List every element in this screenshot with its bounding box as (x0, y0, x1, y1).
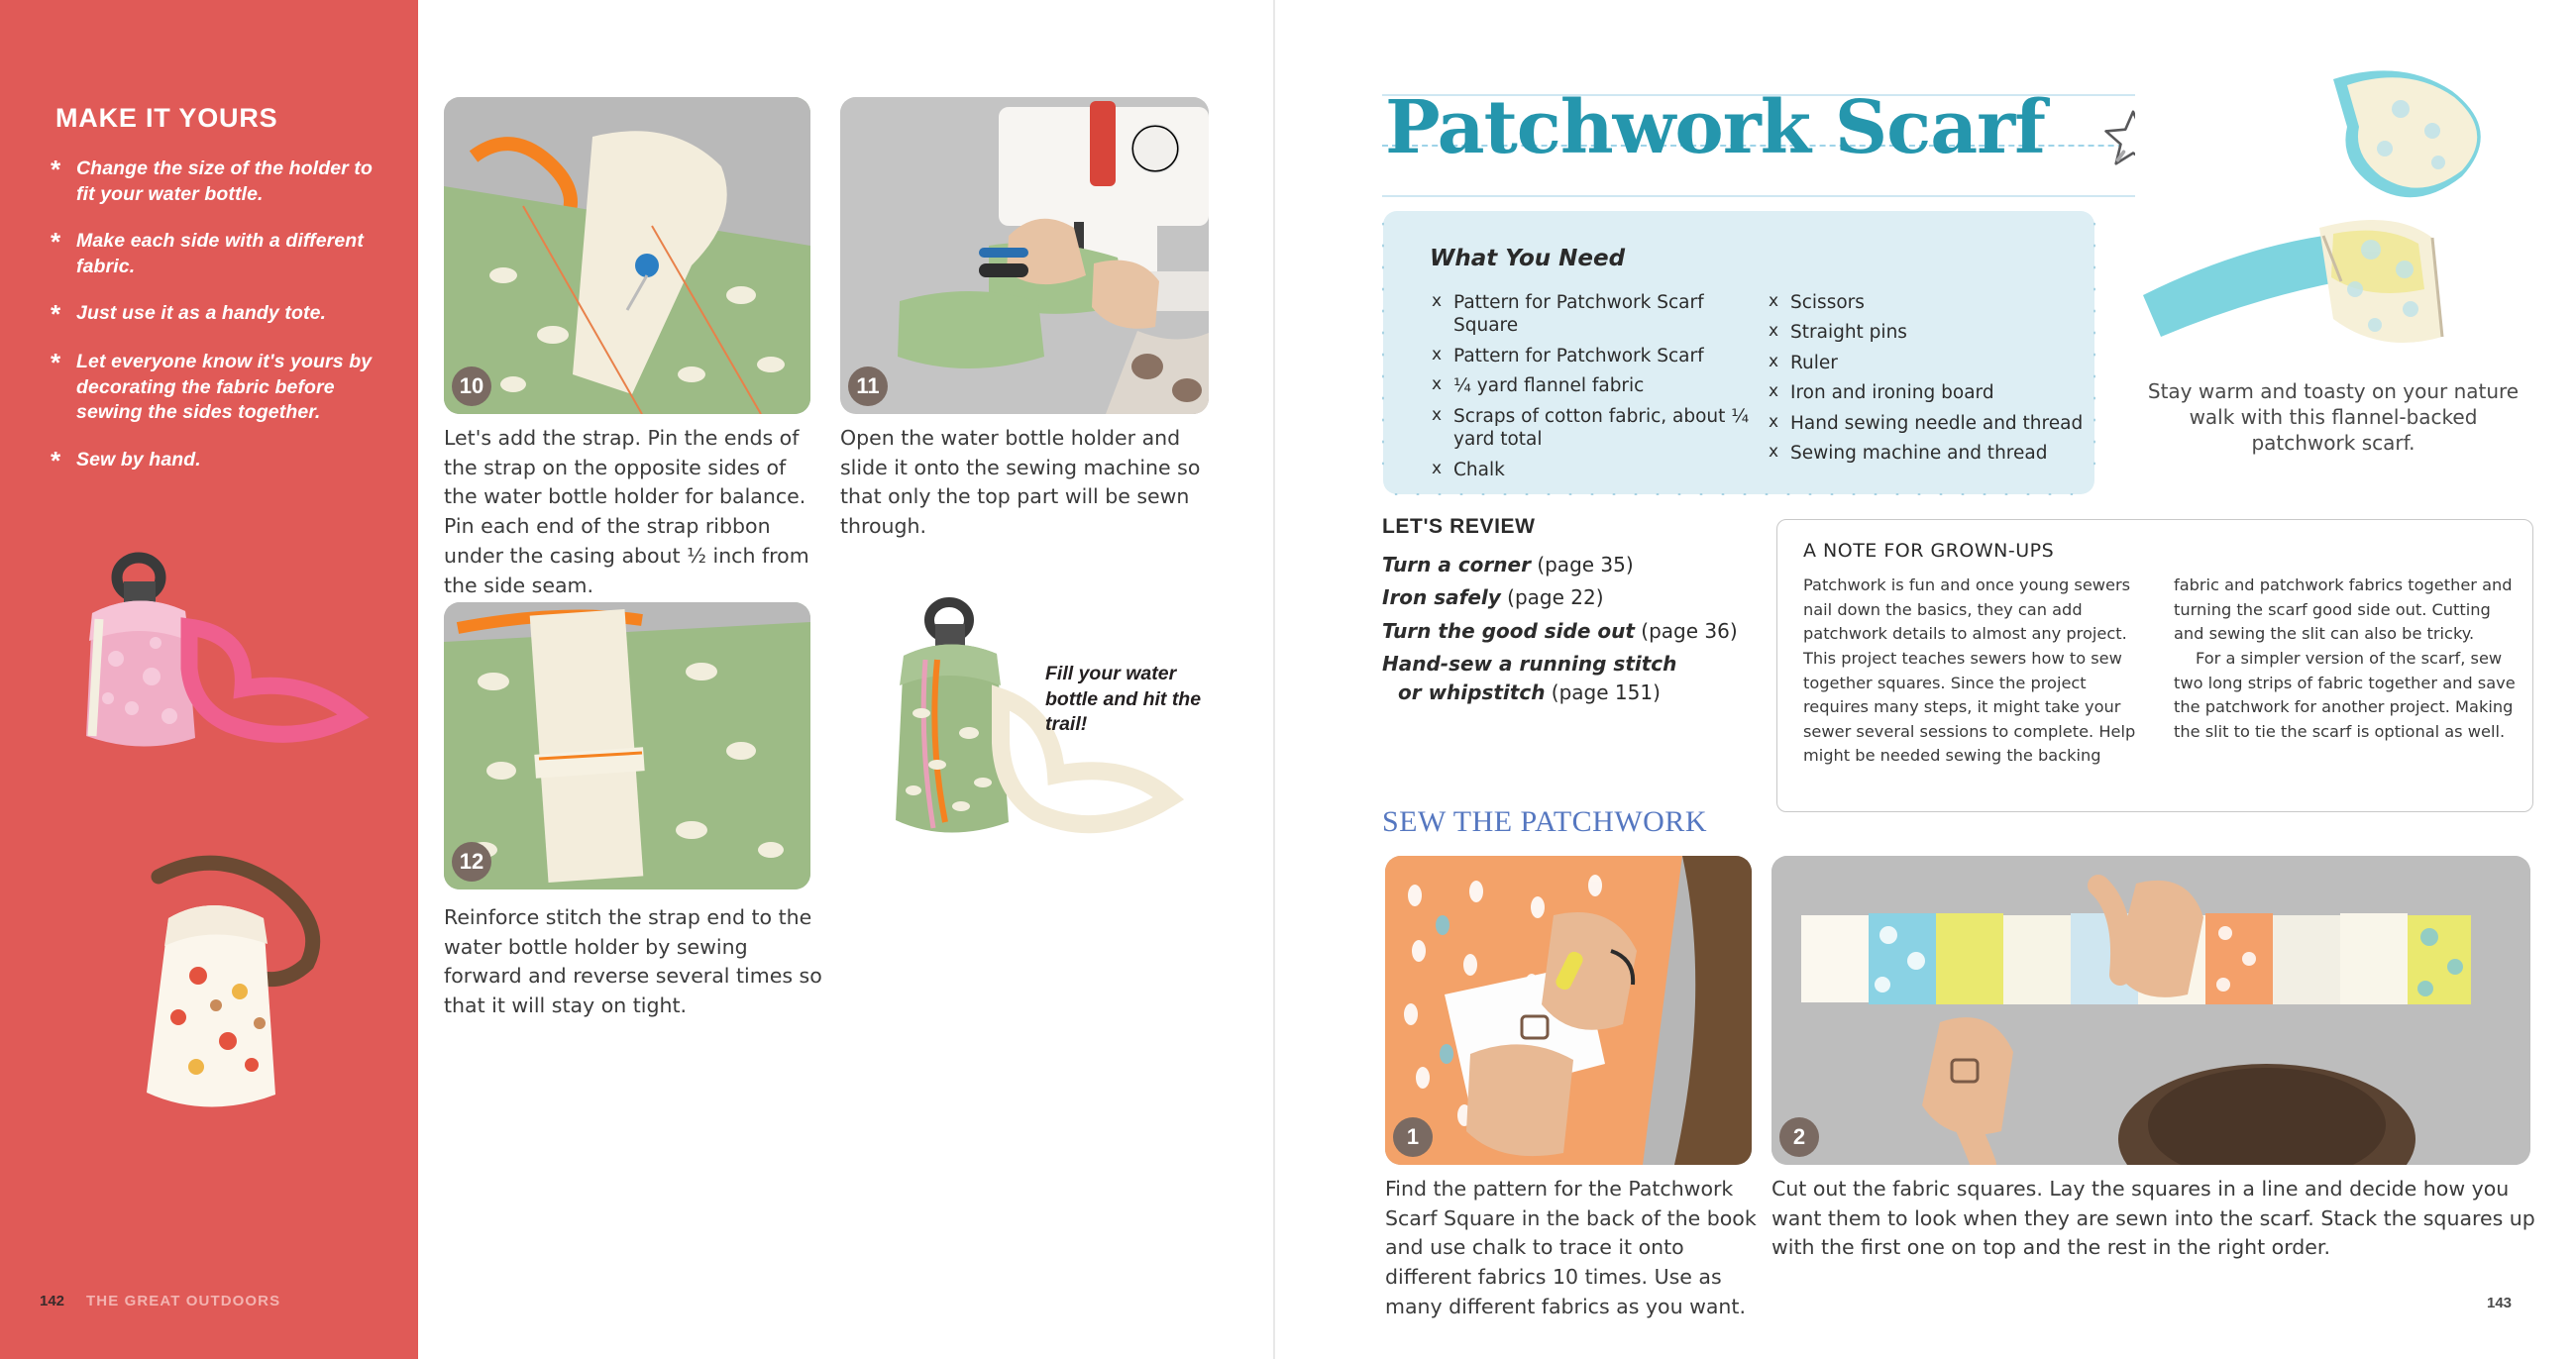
tip-text: Sew by hand. (76, 448, 201, 474)
step-text-10: Let's add the strap. Pin the ends of the… (444, 424, 820, 600)
review-page-ref: (page 22) (1507, 585, 1603, 609)
review-skill: Turn the good side out (1382, 619, 1635, 643)
material-label: Sewing machine and thread (1790, 442, 2047, 465)
bullet-x-icon: x (1432, 374, 1453, 397)
tip-text: Change the size of the holder to fit you… (76, 157, 386, 207)
bullet-x-icon: x (1769, 412, 1790, 435)
review-page-ref: (page 151) (1552, 680, 1661, 704)
material-item: x Sewing machine and thread (1769, 442, 2086, 465)
what-you-need-heading: What You Need (1430, 246, 1625, 271)
review-skill: Hand-sew a running stitch (1382, 652, 1676, 676)
grown-ups-column-2: fabric and patchwork fabrics together an… (2174, 574, 2519, 744)
step-number-badge: 10 (452, 366, 491, 406)
tip-text: Just use it as a handy tote. (76, 301, 326, 328)
sew-the-patchwork-heading: SEW THE PATCHWORK (1382, 805, 1707, 839)
page-title: Patchwork Scarf (1385, 85, 2045, 170)
tip-item: * Make each side with a different fabric… (50, 229, 386, 279)
photo-step-12: 12 (444, 602, 810, 889)
material-label: Chalk (1453, 459, 1505, 481)
materials-column-1: x Pattern for Patchwork Scarf Square x P… (1432, 291, 1759, 488)
section-title: THE GREAT OUTDOORS (86, 1293, 280, 1309)
grown-ups-heading: A NOTE FOR GROWN-UPS (1803, 540, 2054, 562)
asterisk-icon: * (50, 229, 76, 279)
page-number: 143 (2487, 1295, 2512, 1311)
photo-step-11: 11 (840, 97, 1209, 414)
tip-item: * Change the size of the holder to fit y… (50, 157, 386, 207)
review-page-ref: (page 35) (1537, 553, 1633, 576)
tip-item: * Sew by hand. (50, 448, 386, 474)
photo-monkey-print-bag (30, 847, 396, 1154)
step-number-badge: 1 (1393, 1117, 1433, 1157)
bullet-x-icon: x (1769, 321, 1790, 344)
material-label: Straight pins (1790, 321, 1907, 344)
bullet-x-icon: x (1769, 442, 1790, 465)
material-item: x Straight pins (1769, 321, 2086, 344)
scarf-caption: Stay warm and toasty on your nature walk… (2135, 378, 2531, 456)
page-gutter (1273, 0, 1275, 1359)
step-text-11: Open the water bottle holder and slide i… (840, 424, 1217, 542)
review-skill-line2: or whipstitch (1398, 680, 1545, 704)
step-text-12: Reinforce stitch the strap end to the wa… (444, 903, 825, 1021)
review-item: Hand-sew a running stitch or whipstitch … (1382, 650, 1759, 706)
bullet-x-icon: x (1432, 405, 1453, 452)
material-label: Iron and ironing board (1790, 381, 1994, 404)
asterisk-icon: * (50, 301, 76, 328)
material-item: x ¼ yard flannel fabric (1432, 374, 1759, 397)
photo-finished-scarf (2135, 40, 2531, 366)
make-it-yours-heading: MAKE IT YOURS (55, 103, 277, 134)
tip-item: * Just use it as a handy tote. (50, 301, 386, 328)
tip-text: Let everyone know it's yours by decorati… (76, 350, 386, 426)
material-label: Pattern for Patchwork Scarf (1453, 345, 1704, 367)
material-item: x Hand sewing needle and thread (1769, 412, 2086, 435)
step-text-sew-2: Cut out the fabric squares. Lay the squa… (1771, 1175, 2536, 1263)
material-label: Scraps of cotton fabric, about ¼ yard to… (1453, 405, 1759, 452)
step-number-badge: 2 (1779, 1117, 1819, 1157)
what-you-need-box: What You Need x Pattern for Patchwork Sc… (1382, 210, 2095, 495)
tips-list: * Change the size of the holder to fit y… (50, 157, 386, 496)
material-item: x Pattern for Patchwork Scarf (1432, 345, 1759, 367)
step-number-badge: 12 (452, 842, 491, 882)
step-text-sew-1: Find the pattern for the Patchwork Scarf… (1385, 1175, 1760, 1322)
callout-fill-bottle: Fill your water bottle and hit the trail… (1045, 662, 1224, 738)
bullet-x-icon: x (1432, 459, 1453, 481)
grown-ups-paragraph: For a simpler version of the scarf, sew … (2174, 647, 2519, 745)
material-label: Ruler (1790, 352, 1838, 374)
material-label: Hand sewing needle and thread (1790, 412, 2083, 435)
make-it-yours-panel: MAKE IT YOURS * Change the size of the h… (0, 0, 418, 1359)
tip-text: Make each side with a different fabric. (76, 229, 386, 279)
review-item: Turn the good side out (page 36) (1382, 617, 1759, 645)
review-skill: Iron safely (1382, 585, 1501, 609)
bullet-x-icon: x (1769, 381, 1790, 404)
step-number-badge: 11 (848, 366, 888, 406)
photo-pink-bottle-holder (45, 550, 381, 802)
material-item: x Scraps of cotton fabric, about ¼ yard … (1432, 405, 1759, 452)
bullet-x-icon: x (1432, 291, 1453, 338)
material-item: x Chalk (1432, 459, 1759, 481)
material-item: x Pattern for Patchwork Scarf Square (1432, 291, 1759, 338)
bullet-x-icon: x (1432, 345, 1453, 367)
grown-ups-paragraph: fabric and patchwork fabrics together an… (2174, 574, 2519, 647)
grown-ups-column-1: Patchwork is fun and once young sewers n… (1803, 574, 2152, 769)
tip-item: * Let everyone know it's yours by decora… (50, 350, 386, 426)
review-item: Turn a corner (page 35) (1382, 551, 1759, 578)
asterisk-icon: * (50, 350, 76, 426)
footer-left: 142 THE GREAT OUTDOORS (40, 1293, 280, 1309)
review-item: Iron safely (page 22) (1382, 583, 1759, 611)
page-number: 142 (40, 1293, 64, 1309)
lets-review-heading: LET'S REVIEW (1382, 515, 1759, 539)
material-label: ¼ yard flannel fabric (1453, 374, 1644, 397)
lets-review-section: LET'S REVIEW Turn a corner (page 35) Iro… (1382, 515, 1759, 711)
photo-sew-step-2: 2 (1771, 856, 2530, 1165)
asterisk-icon: * (50, 448, 76, 474)
review-page-ref: (page 36) (1641, 619, 1737, 643)
material-label: Scissors (1790, 291, 1865, 314)
material-item: x Iron and ironing board (1769, 381, 2086, 404)
bullet-x-icon: x (1769, 352, 1790, 374)
asterisk-icon: * (50, 157, 76, 207)
photo-sew-step-1: 1 (1385, 856, 1752, 1165)
material-label: Pattern for Patchwork Scarf Square (1453, 291, 1759, 338)
bullet-x-icon: x (1769, 291, 1790, 314)
material-item: x Ruler (1769, 352, 2086, 374)
materials-column-2: x Scissors x Straight pins x Ruler x Iro… (1769, 291, 2086, 472)
grown-ups-note-box: A NOTE FOR GROWN-UPS Patchwork is fun an… (1776, 519, 2533, 812)
review-skill: Turn a corner (1382, 553, 1531, 576)
material-item: x Scissors (1769, 291, 2086, 314)
photo-step-10: 10 (444, 97, 810, 414)
photo-finished-bottle-holder (842, 594, 1219, 991)
